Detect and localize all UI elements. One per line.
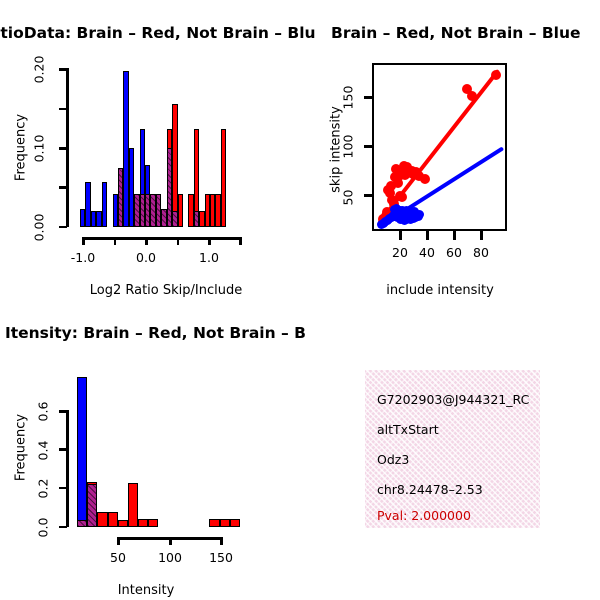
intensity-hist-x-tick-100 — [169, 537, 172, 545]
ratio-hist-x-axis — [82, 237, 241, 240]
ratio-hist-y-tick-0 — [59, 226, 67, 229]
intensity-histogram-bar — [97, 512, 107, 527]
annotation-probe-id: G7202903@J944321_RC — [377, 392, 529, 407]
intensity-hist-y-tick-1 — [59, 487, 67, 490]
intensity-histogram-bar — [138, 519, 148, 527]
scatter-y-tick-50 — [364, 194, 373, 197]
scatter-x-tick-60 — [453, 231, 456, 240]
scatter-point — [397, 192, 407, 202]
intensity-hist-x-ticklabel-50: 50 — [98, 550, 138, 565]
ratio-hist-y-tick-4 — [59, 68, 67, 71]
ratio-histogram-bar — [221, 129, 226, 227]
intensity-hist-y-tick-3 — [59, 410, 67, 413]
ratio-hist-x-tick-1 — [114, 237, 117, 245]
ratio-hist-y-axis-label: Frequency — [14, 103, 29, 193]
intensity-hist-x-tick-150 — [220, 537, 223, 545]
annotation-gene-name: Odz3 — [377, 452, 409, 467]
intensity-histogram-bar — [108, 512, 118, 527]
annotation-locus: chr8.24478–2.53 — [377, 482, 483, 497]
intensity-histogram-bar — [118, 520, 128, 527]
ratio-hist-y-tick-3 — [59, 108, 67, 111]
ratio-histogram-bar — [102, 182, 107, 227]
ratio-hist-y-tick-2 — [59, 147, 67, 150]
scatter-panel: Brain – Red, Not Brain – Blue 50 100 150… — [300, 0, 600, 300]
intensity-histogram-bar — [220, 519, 230, 527]
intensity-hist-y-ticklabel-2: 0.4 — [36, 435, 51, 467]
intensity-histogram-bar — [230, 519, 240, 527]
ratio-histogram-title: RatioData: Brain – Red, Not Brain – Blu — [0, 24, 316, 42]
ratio-hist-y-tick-1 — [59, 186, 67, 189]
intensity-histogram-bar — [209, 519, 219, 527]
intensity-hist-y-axis — [66, 410, 69, 527]
intensity-hist-x-ticklabel-150: 150 — [199, 550, 243, 565]
scatter-x-axis-label: include intensity — [375, 283, 505, 298]
intensity-hist-y-axis-label: Frequency — [14, 403, 29, 493]
ratio-hist-x-tick-5 — [239, 237, 242, 245]
intensity-histogram-panel: ne Itensity: Brain – Red, Not Brain – B … — [0, 300, 300, 600]
intensity-hist-y-ticklabel-1: 0.2 — [36, 473, 51, 505]
scatter-x-tick-40 — [426, 231, 429, 240]
intensity-hist-x-ticklabel-100: 100 — [148, 550, 192, 565]
annotation-info-box: G7202903@J944321_RC altTxStart Odz3 chr8… — [365, 370, 540, 528]
ratio-hist-x-axis-label: Log2 Ratio Skip/Include — [56, 283, 276, 298]
intensity-histogram-title: ne Itensity: Brain – Red, Not Brain – B — [0, 324, 306, 342]
intensity-histogram-bar — [128, 483, 138, 527]
intensity-hist-x-axis-label: Intensity — [96, 583, 196, 598]
scatter-y-tick-100 — [364, 145, 373, 148]
ratio-hist-y-ticklabel-2: 0.10 — [32, 131, 47, 167]
intensity-histogram-overlap-bar — [77, 520, 87, 527]
intensity-hist-y-tick-2 — [59, 448, 67, 451]
ratio-histogram-bar — [178, 194, 183, 227]
annotation-event-type: altTxStart — [377, 422, 439, 437]
intensity-hist-y-ticklabel-0: 0.0 — [36, 512, 51, 544]
scatter-point — [415, 210, 424, 219]
intensity-histogram-bars — [72, 372, 245, 527]
scatter-point — [491, 70, 501, 80]
ratio-hist-x-tick-3 — [177, 237, 180, 245]
ratio-histogram-panel: RatioData: Brain – Red, Not Brain – Blu … — [0, 0, 300, 300]
scatter-y-axis-label: skip intensity — [329, 105, 344, 195]
ratio-hist-x-ticklabel-4: 1.0 — [184, 250, 234, 265]
scatter-title: Brain – Red, Not Brain – Blue — [331, 24, 581, 42]
ratio-hist-x-tick-4 — [208, 237, 211, 245]
ratio-hist-x-ticklabel-2: 0.0 — [121, 250, 171, 265]
intensity-histogram-bar — [148, 519, 158, 527]
ratio-hist-x-tick-2 — [145, 237, 148, 245]
intensity-histogram-bar — [77, 377, 87, 527]
scatter-point — [420, 174, 430, 184]
scatter-y-tick-150 — [364, 96, 373, 99]
scatter-points-layer — [374, 65, 505, 229]
ratio-histogram-bars — [80, 62, 248, 227]
annotation-pval: Pval: 2.000000 — [377, 508, 471, 523]
ratio-hist-x-ticklabel-0: -1.0 — [58, 250, 108, 265]
intensity-histogram-overlap-bar — [87, 484, 97, 527]
ratio-hist-y-ticklabel-4: 0.20 — [32, 52, 47, 88]
scatter-x-ticklabel-80: 80 — [461, 245, 501, 260]
scatter-x-tick-20 — [399, 231, 402, 240]
intensity-hist-y-ticklabel-3: 0.6 — [36, 396, 51, 428]
ratio-hist-y-ticklabel-0: 0.00 — [32, 210, 47, 246]
intensity-hist-x-tick-50 — [117, 537, 120, 545]
intensity-hist-y-tick-0 — [59, 526, 67, 529]
ratio-hist-x-tick-0 — [82, 237, 85, 245]
scatter-x-tick-80 — [480, 231, 483, 240]
